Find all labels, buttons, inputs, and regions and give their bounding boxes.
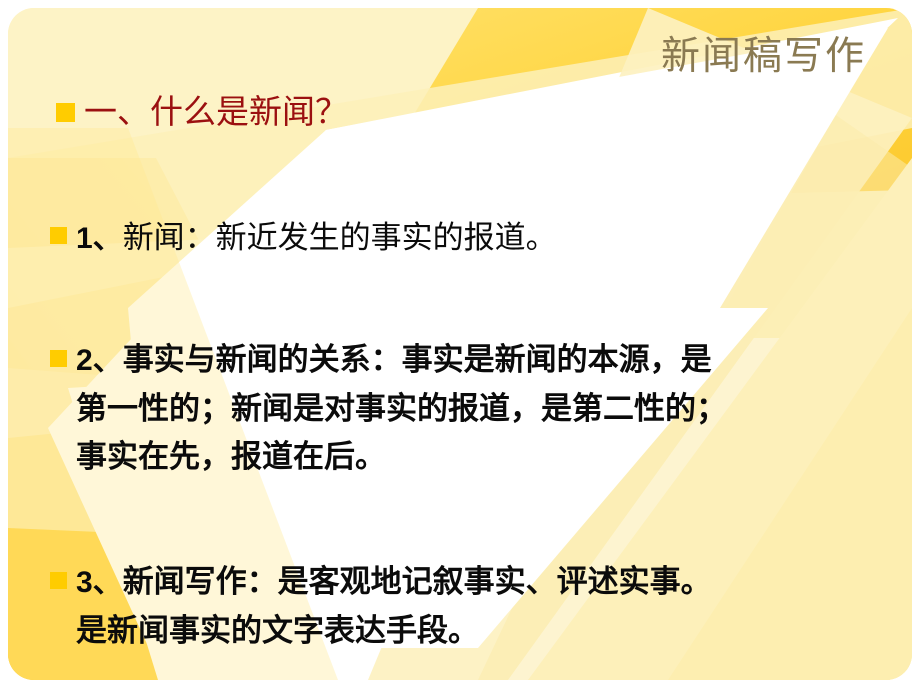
- list-item-number: 2、: [76, 344, 123, 377]
- slide-canvas: 新闻稿写作 一、什么是新闻？ 1、新闻：新近发生的事实的报道。 2、事实与新闻的…: [0, 0, 920, 690]
- list-item: 3、新闻写作：是客观地记叙事实、评述实事。 是新闻事实的文字表达手段。: [50, 558, 895, 655]
- slide-background-card: 新闻稿写作 一、什么是新闻？ 1、新闻：新近发生的事实的报道。 2、事实与新闻的…: [8, 8, 912, 680]
- square-bullet-icon: [56, 103, 75, 122]
- slide-content: 一、什么是新闻？ 1、新闻：新近发生的事实的报道。 2、事实与新闻的关系：事实是…: [8, 8, 912, 680]
- square-bullet-icon: [50, 227, 67, 244]
- list-item-body: 3、新闻写作：是客观地记叙事实、评述实事。 是新闻事实的文字表达手段。: [76, 558, 895, 655]
- page-title: 新闻稿写作: [661, 34, 866, 80]
- list-item-line: 事实与新闻的关系：事实是新闻的本源，是: [123, 342, 712, 377]
- list-item: 2、事实与新闻的关系：事实是新闻的本源，是 第一性的；新闻是对事实的报道，是第二…: [50, 336, 890, 481]
- list-item-line: 新闻写作：是客观地记叙事实、评述实事。: [123, 564, 712, 599]
- title-area: 新闻稿写作: [661, 34, 866, 80]
- list-item-line: 是新闻事实的文字表达手段。: [76, 607, 895, 655]
- list-item-line: 事实在先，报道在后。: [76, 433, 890, 481]
- list-item-number: 3、: [76, 566, 123, 599]
- heading-bullet-row: 一、什么是新闻？: [56, 92, 856, 134]
- list-item-number: 1、: [76, 222, 123, 255]
- square-bullet-icon: [50, 350, 67, 367]
- list-item: 1、新闻：新近发生的事实的报道。: [50, 215, 880, 261]
- square-bullet-icon: [50, 572, 67, 589]
- list-item-line: 第一性的；新闻是对事实的报道，是第二性的；: [76, 385, 890, 433]
- list-item-line-first: 3、新闻写作：是客观地记叙事实、评述实事。: [76, 558, 895, 607]
- list-item-line: 新闻：新近发生的事实的报道。: [123, 220, 557, 255]
- list-item-body: 2、事实与新闻的关系：事实是新闻的本源，是 第一性的；新闻是对事实的报道，是第二…: [76, 336, 890, 481]
- list-item-line-first: 2、事实与新闻的关系：事实是新闻的本源，是: [76, 336, 890, 385]
- list-item-body: 1、新闻：新近发生的事实的报道。: [76, 215, 880, 261]
- section-heading: 一、什么是新闻？: [84, 92, 856, 134]
